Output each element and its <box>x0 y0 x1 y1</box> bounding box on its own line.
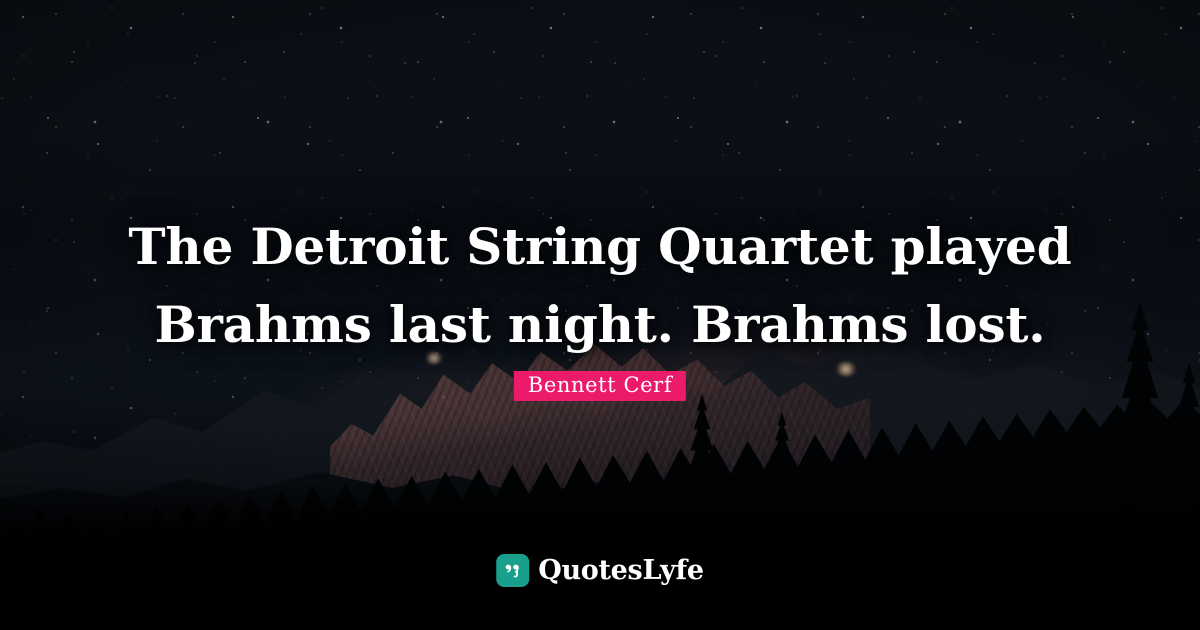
quote-mark-icon <box>496 554 529 587</box>
quote-text: The Detroit String Quartet played Brahms… <box>55 208 1145 364</box>
brand-logo[interactable]: QuotesLyfe <box>496 554 704 587</box>
quote-card: The Detroit String Quartet played Brahms… <box>0 0 1200 630</box>
card-content: The Detroit String Quartet played Brahms… <box>0 0 1200 630</box>
author-name-badge: Bennett Cerf <box>514 371 686 401</box>
brand-name-label: QuotesLyfe <box>538 556 704 586</box>
